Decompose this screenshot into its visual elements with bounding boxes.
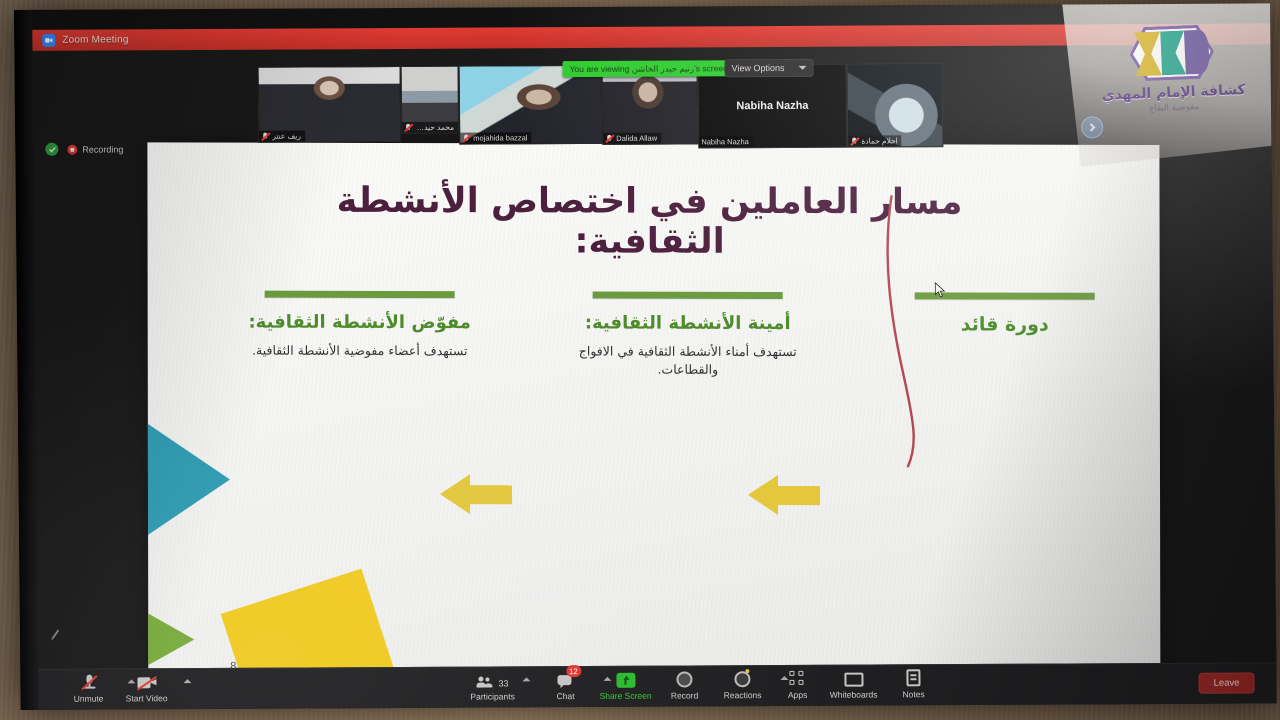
arrow-head <box>440 474 470 514</box>
left-arrow-icon <box>440 474 512 514</box>
leave-button[interactable]: Leave <box>1199 673 1255 694</box>
chevron-up-icon[interactable] <box>522 677 530 681</box>
toolbar-icon-wrap: 12 <box>557 670 574 688</box>
recording-label: Recording <box>82 144 123 154</box>
participant-name-tag: محمد حيدر الخاشن <box>402 122 458 133</box>
participant-name: Dalida Allaw <box>616 134 657 143</box>
toolbar-button-unmute[interactable]: Unmute <box>56 672 120 703</box>
shield-check-icon[interactable] <box>45 143 58 156</box>
toolbar-label: Reactions <box>724 690 762 700</box>
participant-name-tag: احلام حمادة <box>848 135 902 146</box>
participant-tile[interactable]: احلام حمادة <box>847 63 944 147</box>
logo-subtitle: مفوضية البقاع <box>1149 102 1199 114</box>
record-circle-icon <box>676 671 692 687</box>
toolbar-icon-wrap <box>906 668 920 686</box>
column-subtext: تستهدف أمناء الأنشطة الثقافية في الافواج… <box>568 342 808 379</box>
toolbar-label: Apps <box>788 690 807 700</box>
decorative-teal-triangle <box>147 391 230 567</box>
toolbar-icon-wrap <box>789 669 805 687</box>
column-rule <box>593 291 783 298</box>
toolbar-button-chat[interactable]: 12Chat <box>533 670 597 701</box>
people-icon <box>476 676 494 688</box>
toolbar-icon-wrap: 33 <box>476 670 508 688</box>
participant-video <box>848 64 943 146</box>
slide-column-leader-course: دورة قائد <box>890 292 1120 345</box>
microphone-muted-icon <box>462 134 470 142</box>
participant-name-tag: mojahida bazzal <box>460 132 531 143</box>
column-heading: دورة قائد <box>890 313 1120 336</box>
share-screen-icon <box>616 673 635 688</box>
microphone-muted-icon <box>81 674 96 691</box>
toolbar-label: Start Video <box>126 693 168 703</box>
toolbar-label: Participants <box>470 691 515 701</box>
toolbar-button-record[interactable]: Record <box>652 669 716 700</box>
column-subtext: تستهدف أعضاء مفوضية الأنشطة الثقافية. <box>220 342 500 361</box>
participant-name: احلام حمادة <box>861 136 898 145</box>
view-options-button[interactable]: View Options <box>725 59 814 77</box>
recording-status-row: Recording <box>45 142 123 155</box>
microphone-muted-icon <box>605 134 613 142</box>
toolbar-label: Record <box>671 690 699 700</box>
participant-name: mojahida bazzal <box>473 133 527 142</box>
viewing-screen-text: You are viewing رنيم حيدر الخاشن's scree… <box>570 63 728 75</box>
microphone-muted-icon <box>261 132 269 140</box>
toolbar-label: Whiteboards <box>830 689 878 699</box>
mouse-cursor <box>935 282 946 298</box>
microphone-muted-icon <box>404 123 412 131</box>
toolbar-label: Unmute <box>74 694 104 704</box>
toolbar-label: Notes <box>902 689 924 699</box>
recording-indicator[interactable]: Recording <box>67 144 123 154</box>
toolbar-button-whiteboards[interactable]: Whiteboards <box>821 668 885 699</box>
toolbar-button-share-screen[interactable]: Share Screen <box>593 670 657 701</box>
chevron-down-icon <box>798 66 806 70</box>
toolbar-label: Chat <box>557 691 575 701</box>
microphone-muted-icon <box>850 137 858 145</box>
view-options-label: View Options <box>732 63 785 73</box>
left-arrow-icon <box>748 475 820 515</box>
toolbar-icon-wrap <box>734 669 750 687</box>
arrow-head <box>748 475 778 515</box>
participant-name: محمد حيدر الخاشن <box>415 123 454 132</box>
toolbar-icon-wrap <box>81 673 96 691</box>
logo-title: كشافة الإمام المهدي <box>1101 82 1246 104</box>
shared-slide: مسار العاملين في اختصاص الأنشطة الثقافية… <box>147 142 1160 678</box>
participant-name: Nabiha Nazha <box>701 137 749 146</box>
apps-grid-icon <box>789 671 805 687</box>
participant-name: ريف عنتر <box>272 131 301 140</box>
column-heading: مفوّض الأنشطة الثقافية: <box>220 312 500 334</box>
arrow-shaft <box>468 485 512 504</box>
arrow-shaft <box>776 486 820 505</box>
column-subtext <box>890 344 1120 345</box>
toolbar-icon-wrap <box>676 669 692 687</box>
toolbar-button-start-video[interactable]: Start Video <box>114 672 178 703</box>
decorative-yellow-rectangle <box>221 569 408 678</box>
toolbar-button-participants[interactable]: 33Participants <box>460 670 524 701</box>
slide-column-cultural-secretary: أمينة الأنشطة الثقافية: تستهدف أمناء الأ… <box>568 291 808 379</box>
meeting-toolbar: Leave UnmuteStart Video33Participants12C… <box>38 662 1276 709</box>
slide-columns: دورة قائد أمينة الأنشطة الثقافية: تستهدف… <box>148 290 1160 433</box>
camera-muted-icon <box>137 676 156 690</box>
participants-count: 33 <box>498 678 508 688</box>
toolbar-icon-wrap <box>616 670 635 688</box>
toolbar-label: Share Screen <box>600 691 652 701</box>
zoom-logo-icon <box>42 34 55 47</box>
photo-frame: Zoom Meeting You are viewing رنيم حيدر ا… <box>0 0 1280 720</box>
organization-logo: كشافة الإمام المهدي مفوضية البقاع <box>1095 23 1251 116</box>
column-rule <box>265 291 455 298</box>
participant-name-tag: Nabiha Nazha <box>699 136 753 147</box>
record-dot-icon <box>67 144 77 154</box>
monitor-screen: Zoom Meeting You are viewing رنيم حيدر ا… <box>14 3 1277 710</box>
toolbar-icon-wrap <box>137 672 156 690</box>
participant-center-name: Nabiha Nazha <box>699 65 847 148</box>
chat-unread-badge: 12 <box>566 665 581 677</box>
toolbar-icon-wrap <box>844 669 863 687</box>
decorative-green-triangle <box>147 593 194 678</box>
column-heading: أمينة الأنشطة الثقافية: <box>568 312 808 334</box>
participant-tile[interactable]: ريف عنتر <box>258 66 402 143</box>
reactions-icon <box>734 671 750 687</box>
window-title: Zoom Meeting <box>62 34 128 45</box>
chevron-up-icon[interactable] <box>183 679 191 683</box>
toolbar-button-notes[interactable]: Notes <box>881 668 945 699</box>
viewing-screen-banner: You are viewing رنيم حيدر الخاشن's scree… <box>563 60 735 77</box>
whiteboard-icon <box>844 673 863 687</box>
participant-tile[interactable]: محمد حيدر الخاشن <box>401 66 460 134</box>
toolbar-button-apps[interactable]: Apps <box>765 669 829 700</box>
annotation-pen-icon[interactable] <box>50 628 60 642</box>
slide-column-cultural-commissioner: مفوّض الأنشطة الثقافية: تستهدف أعضاء مفو… <box>220 291 500 361</box>
notes-icon <box>906 669 920 686</box>
participant-name-tag: ريف عنتر <box>259 130 305 141</box>
hexagon-emblem-icon <box>1129 24 1215 81</box>
hex-art <box>1134 29 1210 76</box>
participant-name-tag: Dalida Allaw <box>603 133 661 144</box>
slide-title: مسار العاملين في اختصاص الأنشطة الثقافية… <box>257 181 1041 263</box>
